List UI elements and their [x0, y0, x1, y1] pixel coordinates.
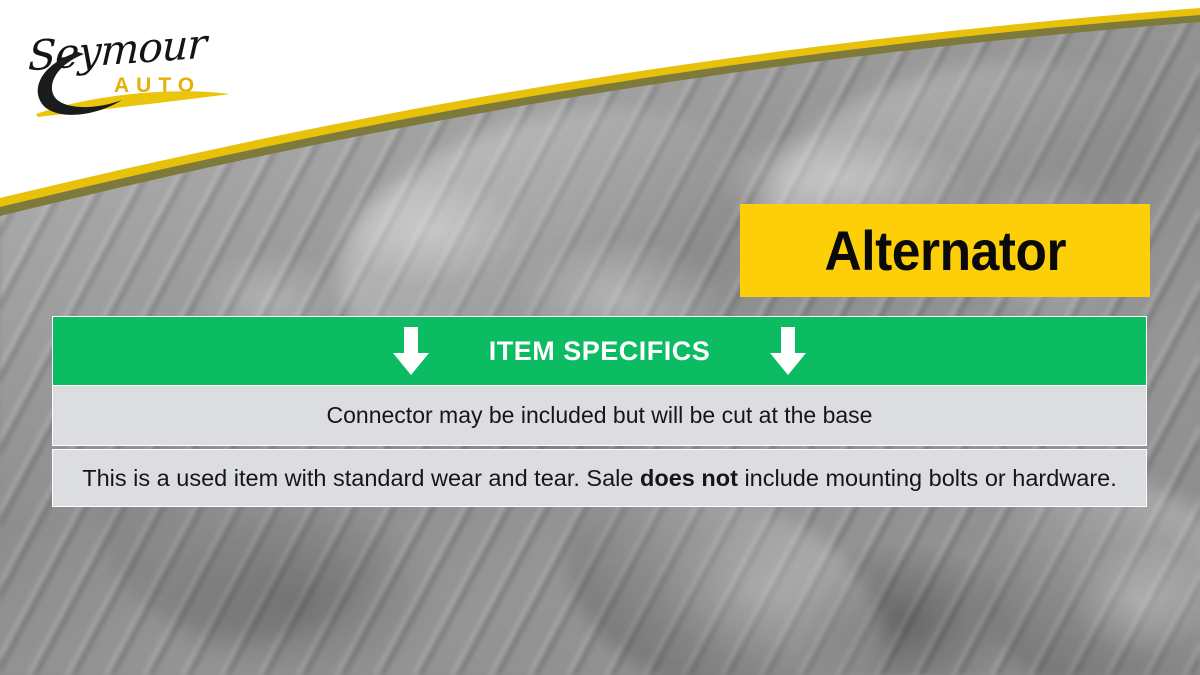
- spec-text-emphasis: does not: [640, 465, 738, 491]
- slide-canvas: Seymour AUTO Alternator ITEM SPECIFICS C…: [0, 0, 1200, 675]
- arrow-down-icon: [768, 325, 808, 377]
- spec-row-condition: This is a used item with standard wear a…: [52, 449, 1147, 507]
- product-title: Alternator: [824, 218, 1066, 283]
- product-title-banner: Alternator: [740, 204, 1150, 297]
- gold-swoosh-icon: [18, 22, 248, 122]
- spec-row-text: This is a used item with standard wear a…: [82, 465, 1117, 492]
- brand-logo: Seymour AUTO: [18, 22, 248, 122]
- spec-row-connector: Connector may be included but will be cu…: [52, 386, 1147, 446]
- spec-text-before: This is a used item with standard wear a…: [82, 465, 640, 491]
- spec-row-text: Connector may be included but will be cu…: [327, 402, 873, 429]
- spec-text-after: include mounting bolts or hardware.: [738, 465, 1117, 491]
- item-specifics-header: ITEM SPECIFICS: [52, 316, 1147, 386]
- arrow-down-icon: [391, 325, 431, 377]
- item-specifics-panel: ITEM SPECIFICS Connector may be included…: [52, 316, 1147, 507]
- item-specifics-title: ITEM SPECIFICS: [489, 336, 711, 367]
